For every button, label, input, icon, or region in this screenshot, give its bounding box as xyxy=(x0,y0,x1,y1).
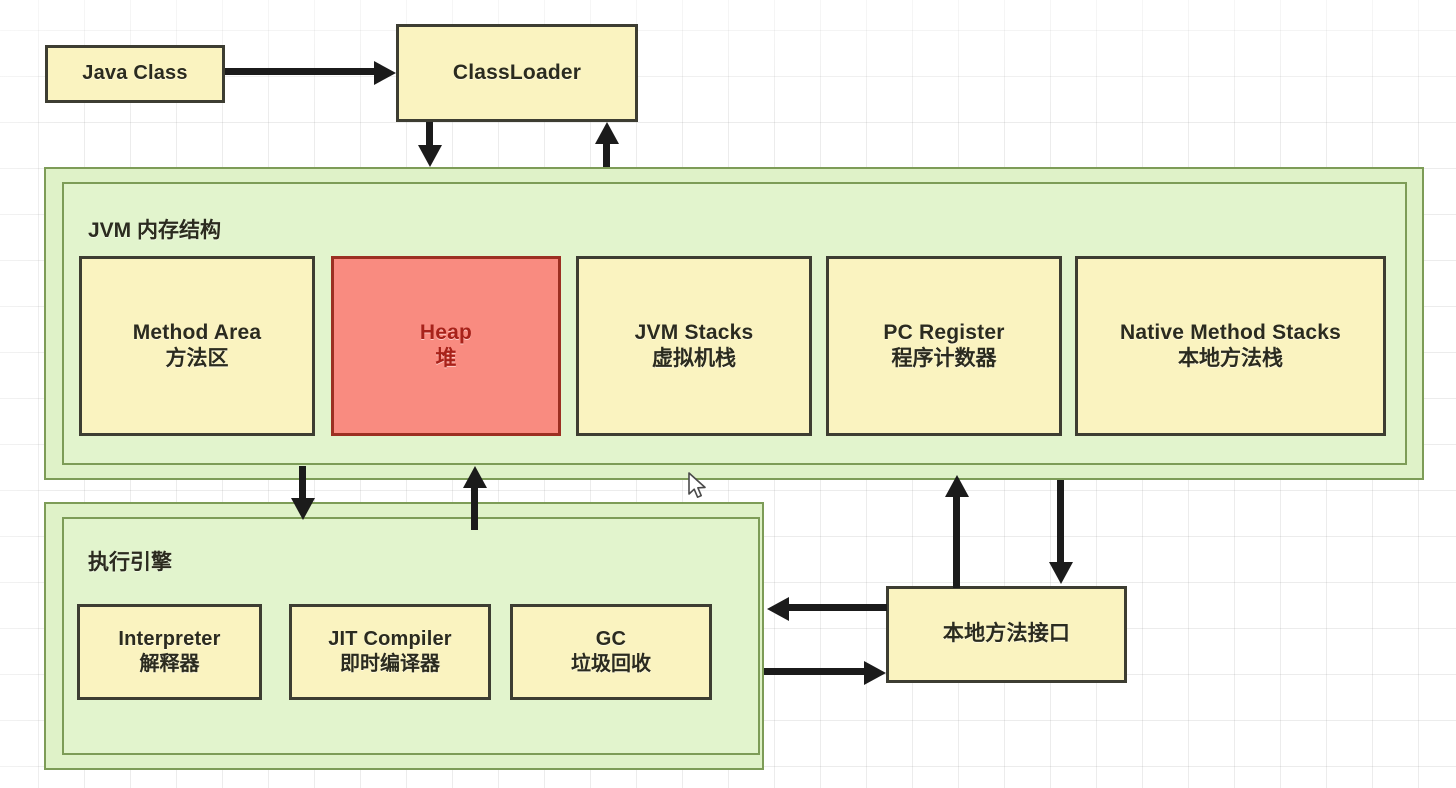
arrow-memory-to-classloader-line xyxy=(603,144,610,167)
node-class-loader[interactable]: ClassLoader xyxy=(396,24,638,122)
engine-component-gc[interactable]: GC 垃圾回收 xyxy=(510,604,712,700)
arrow-engine-to-native-interface-head xyxy=(864,661,886,685)
arrow-java-class-to-classloader-line xyxy=(225,68,375,75)
engine-component-subtitle: 解释器 xyxy=(140,652,200,676)
engine-component-interpreter[interactable]: Interpreter 解释器 xyxy=(77,604,262,700)
memory-area-subtitle: 程序计数器 xyxy=(892,346,997,371)
engine-component-subtitle: 垃圾回收 xyxy=(571,652,651,676)
arrow-memory-to-engine-head xyxy=(291,498,315,520)
memory-area-method-area[interactable]: Method Area 方法区 xyxy=(79,256,315,436)
memory-area-title: Native Method Stacks xyxy=(1120,321,1341,346)
arrow-memory-to-native-interface-line xyxy=(1057,480,1064,564)
arrow-native-interface-to-engine-line xyxy=(789,604,887,611)
engine-component-subtitle: 即时编译器 xyxy=(340,652,440,676)
memory-area-title: Method Area xyxy=(133,321,262,346)
arrow-java-class-to-classloader-head xyxy=(374,61,396,85)
group-jvm-memory-label: JVM 内存结构 xyxy=(88,214,221,244)
memory-area-jvm-stacks[interactable]: JVM Stacks 虚拟机栈 xyxy=(576,256,812,436)
memory-area-pc-register[interactable]: PC Register 程序计数器 xyxy=(826,256,1062,436)
memory-area-subtitle: 方法区 xyxy=(166,346,229,371)
memory-area-subtitle: 本地方法栈 xyxy=(1178,346,1283,371)
arrow-native-interface-to-memory-line xyxy=(953,496,960,588)
engine-component-title: Interpreter xyxy=(118,628,220,652)
java-class-label: Java Class xyxy=(82,62,187,86)
class-loader-label: ClassLoader xyxy=(453,61,581,86)
diagram-canvas: Java Class ClassLoader JVM 内存结构 Method A… xyxy=(0,0,1456,788)
arrow-engine-to-memory-line xyxy=(471,487,478,530)
arrow-engine-to-memory-head xyxy=(463,466,487,488)
native-method-interface-label: 本地方法接口 xyxy=(943,622,1070,647)
memory-area-subtitle: 虚拟机栈 xyxy=(652,346,736,371)
memory-area-title: PC Register xyxy=(883,321,1004,346)
engine-component-jit-compiler[interactable]: JIT Compiler 即时编译器 xyxy=(289,604,491,700)
arrow-native-interface-to-engine-head xyxy=(767,597,789,621)
engine-component-title: JIT Compiler xyxy=(328,628,452,652)
memory-area-heap[interactable]: Heap 堆 xyxy=(331,256,561,436)
arrow-memory-to-classloader-head xyxy=(595,122,619,144)
arrow-native-interface-to-memory-head xyxy=(945,475,969,497)
memory-area-subtitle: 堆 xyxy=(436,346,457,371)
arrow-classloader-to-memory-line xyxy=(426,122,433,146)
arrow-classloader-to-memory-head xyxy=(418,145,442,167)
memory-area-native-method-stacks[interactable]: Native Method Stacks 本地方法栈 xyxy=(1075,256,1386,436)
node-java-class[interactable]: Java Class xyxy=(45,45,225,103)
memory-area-title: Heap xyxy=(420,321,472,346)
memory-area-title: JVM Stacks xyxy=(635,321,754,346)
arrow-engine-to-native-interface-line xyxy=(764,668,865,675)
group-execution-engine-label: 执行引擎 xyxy=(88,546,172,576)
engine-component-title: GC xyxy=(596,628,626,652)
node-native-method-interface[interactable]: 本地方法接口 xyxy=(886,586,1127,683)
arrow-memory-to-native-interface-head xyxy=(1049,562,1073,584)
